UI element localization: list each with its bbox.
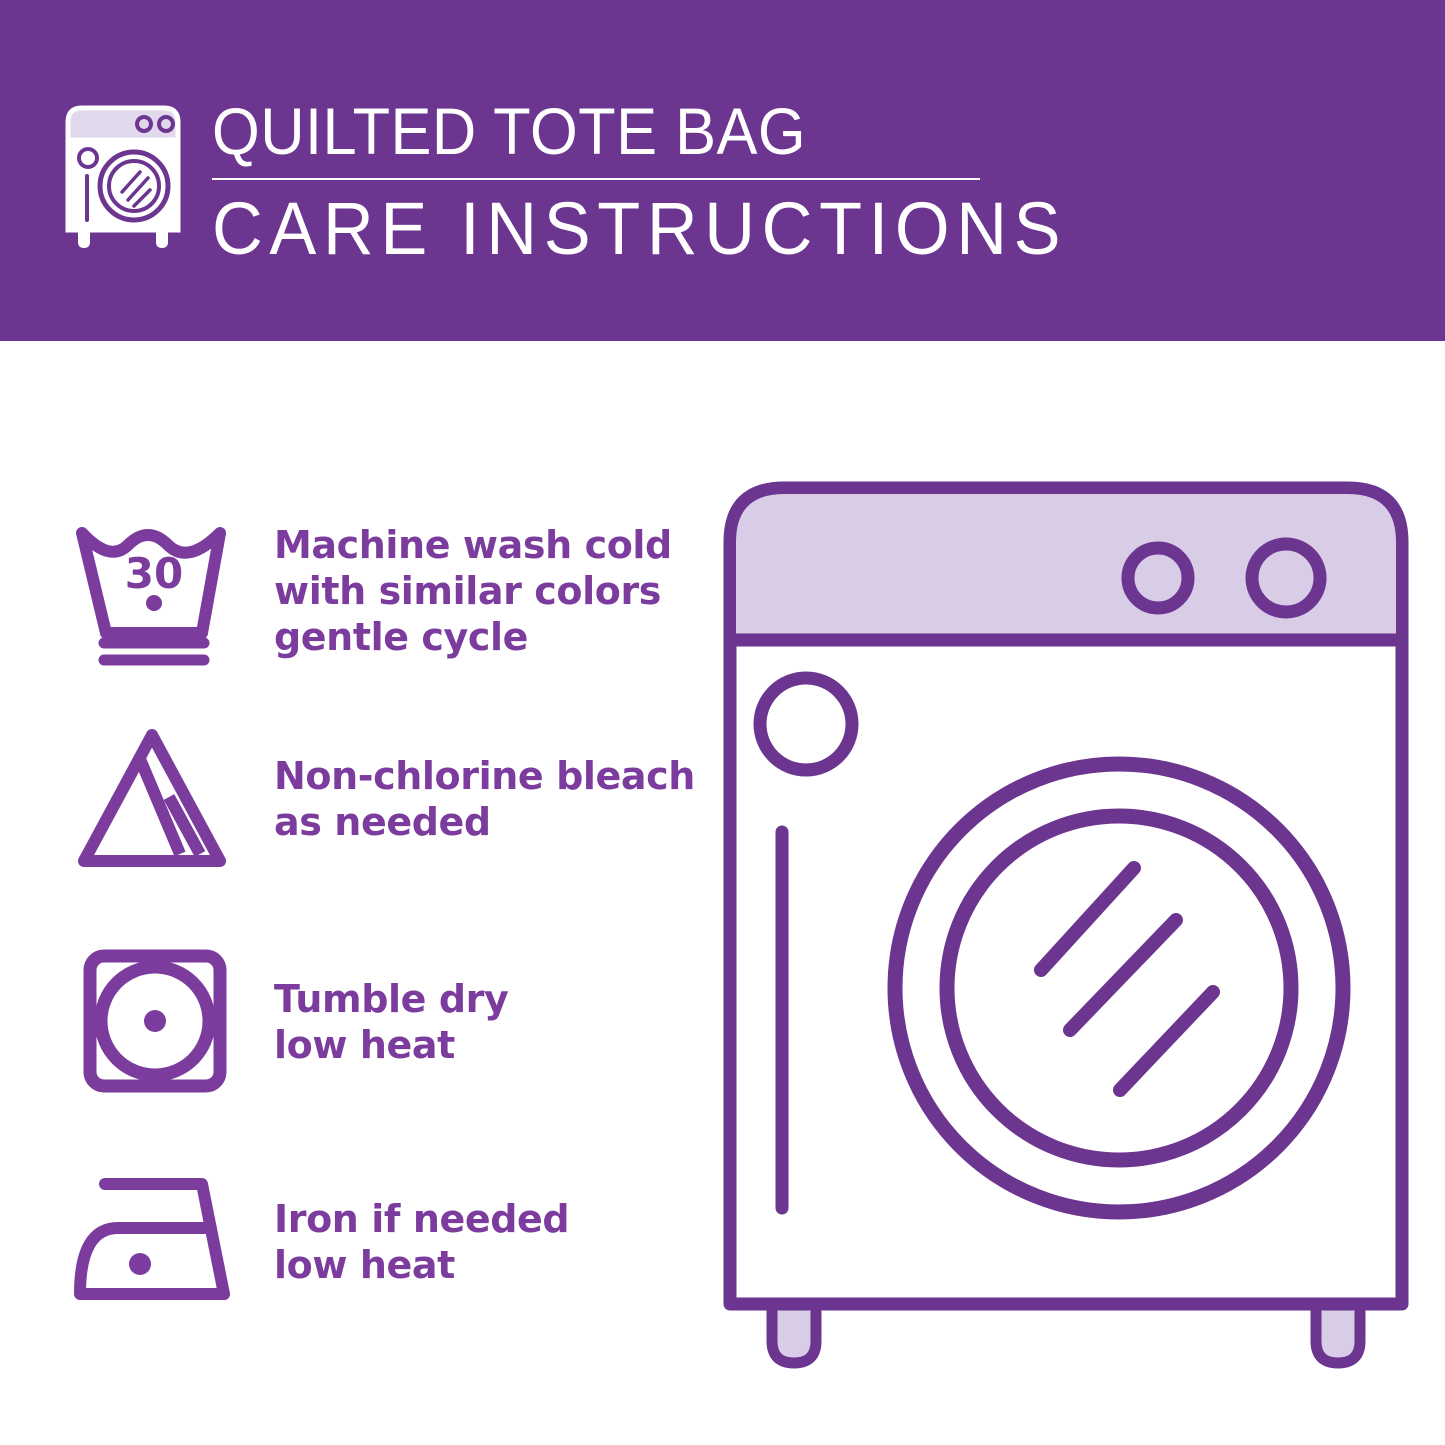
iron-low-heat-symbol [62,1160,252,1325]
page-title: QUILTED TOTE BAG [212,92,975,170]
washing-machine-illustration [716,468,1416,1388]
care-row: Iron if needed low heat [0,1147,700,1337]
care-row: 30 Machine wash cold with similar colors… [0,491,700,691]
care-label: Iron if needed low heat [274,1196,569,1288]
tumble-dry-low-symbol [62,940,252,1105]
care-label: Machine wash cold with similar colors ge… [274,522,672,660]
wash-temperature-value: 30 [125,549,183,598]
header-text-block: QUILTED TOTE BAG CARE INSTRUCTIONS [212,92,1032,272]
title-divider [212,178,980,180]
care-label: Tumble dry low heat [274,976,508,1068]
knob-right [1252,544,1320,612]
machine-wash-30-gentle-symbol: 30 [62,509,252,674]
care-row: Tumble dry low heat [0,927,700,1117]
care-row: Non-chlorine bleach as needed [0,699,700,899]
care-instructions-page: QUILTED TOTE BAG CARE INSTRUCTIONS 30 [0,0,1445,1445]
care-instruction-list: 30 Machine wash cold with similar colors… [0,341,700,1445]
knob-left [1128,548,1188,608]
care-label: Non-chlorine bleach as needed [274,753,695,845]
header-banner: QUILTED TOTE BAG CARE INSTRUCTIONS [0,0,1445,341]
page-subtitle: CARE INSTRUCTIONS [212,186,991,272]
washing-machine-icon [62,96,184,248]
non-chlorine-bleach-symbol [62,717,252,882]
